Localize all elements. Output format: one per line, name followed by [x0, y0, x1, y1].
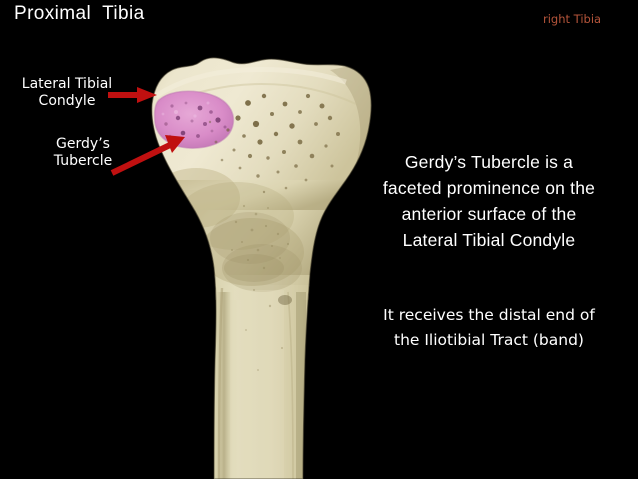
paragraph-definition: Gerdy’s Tubercle is a faceted prominence…	[340, 149, 638, 253]
slide-canvas: Proximal Tibia right Tibia Lateral Tibia…	[0, 0, 638, 479]
paragraph-attachment: It receives the distal end of the Ilioti…	[340, 303, 638, 353]
specimen-side-note: right Tibia	[543, 12, 601, 26]
gerdys-tubercle-highlight	[155, 91, 234, 148]
page-title: Proximal Tibia	[14, 3, 145, 25]
label-lateral-tibial-condyle: Lateral Tibial Condyle	[4, 76, 130, 110]
label-gerdys-tubercle: Gerdy’s Tubercle	[28, 136, 138, 170]
bone-body	[140, 50, 385, 479]
